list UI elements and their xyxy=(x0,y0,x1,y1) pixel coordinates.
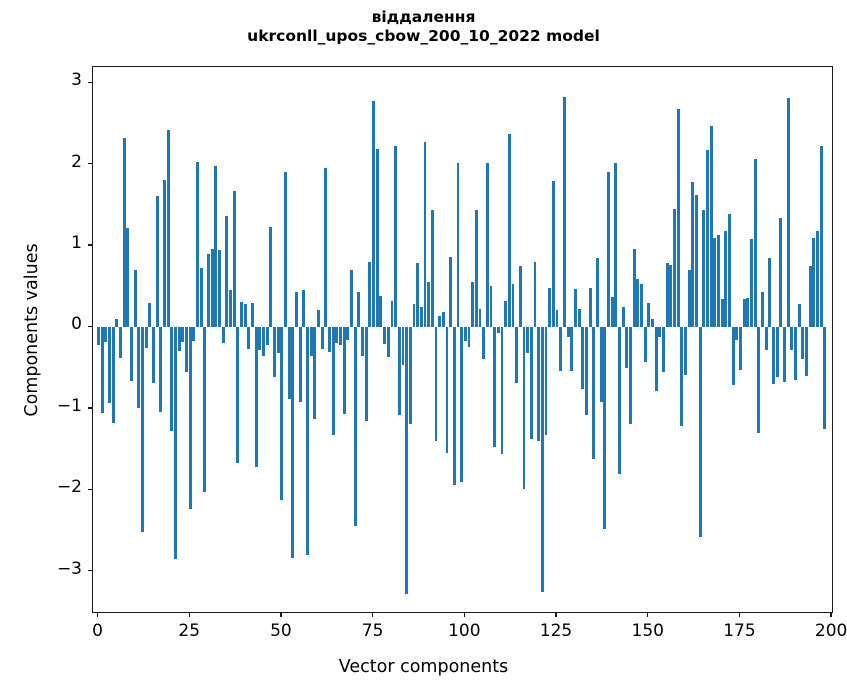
x-tick-label: 75 xyxy=(338,621,408,641)
bar xyxy=(581,327,584,388)
y-tick-label: 1 xyxy=(32,233,82,253)
bar xyxy=(724,231,727,327)
bar xyxy=(449,257,452,328)
bar xyxy=(123,138,126,328)
bar xyxy=(416,263,419,327)
bar xyxy=(585,327,588,414)
chart-title-line-2: ukrconll_upos_cbow_200_10_2022 model xyxy=(0,27,847,46)
bar xyxy=(218,250,221,327)
bar xyxy=(688,270,691,328)
bar xyxy=(732,327,735,385)
bar xyxy=(556,310,559,328)
bar xyxy=(387,327,390,356)
bar xyxy=(629,327,632,424)
bar xyxy=(548,288,551,327)
bar xyxy=(779,218,782,328)
bar xyxy=(611,297,614,328)
bar xyxy=(376,149,379,327)
bar xyxy=(236,327,239,462)
bar xyxy=(402,327,405,364)
bar xyxy=(152,327,155,382)
bar xyxy=(137,327,140,408)
x-tick-label: 0 xyxy=(63,621,133,641)
bar xyxy=(306,327,309,555)
bar xyxy=(534,262,537,327)
bar xyxy=(189,327,192,509)
bar xyxy=(134,270,137,328)
bar xyxy=(420,307,423,327)
bar xyxy=(302,290,305,327)
bar xyxy=(820,146,823,328)
bar xyxy=(394,146,397,328)
bar xyxy=(717,235,720,327)
x-tick-label: 175 xyxy=(704,621,774,641)
bar xyxy=(699,327,702,537)
bar xyxy=(126,228,129,327)
bar xyxy=(200,268,203,327)
bar xyxy=(240,302,243,327)
y-tick-label: 0 xyxy=(32,314,82,334)
bar xyxy=(633,249,636,327)
bar xyxy=(214,166,217,327)
bar xyxy=(578,309,581,328)
bar xyxy=(596,258,599,327)
bar xyxy=(713,238,716,328)
bar xyxy=(328,327,331,351)
bar xyxy=(442,312,445,327)
bar xyxy=(801,327,804,359)
x-tick-mark xyxy=(647,613,648,617)
bar xyxy=(574,289,577,327)
y-tick-label: −1 xyxy=(32,396,82,416)
bar xyxy=(805,327,808,376)
y-tick-label: 3 xyxy=(32,70,82,90)
bar xyxy=(787,98,790,328)
bar xyxy=(545,327,548,434)
bar xyxy=(816,231,819,328)
bar xyxy=(346,327,349,339)
bar xyxy=(823,327,826,429)
bar xyxy=(335,327,338,342)
bar xyxy=(812,238,815,328)
bar xyxy=(530,327,533,439)
bar xyxy=(680,327,683,425)
bar xyxy=(178,327,181,351)
bar xyxy=(185,327,188,372)
bar xyxy=(174,327,177,559)
bar xyxy=(523,327,526,488)
bar xyxy=(295,292,298,327)
y-tick-label: −3 xyxy=(32,559,82,579)
bar xyxy=(607,172,610,327)
bar-series xyxy=(93,67,832,612)
bar xyxy=(101,327,104,412)
bar xyxy=(196,162,199,327)
bar xyxy=(655,327,658,390)
bar xyxy=(324,168,327,328)
bar xyxy=(145,327,148,347)
bar xyxy=(368,262,371,327)
bar xyxy=(167,130,170,328)
bar xyxy=(776,327,779,377)
x-tick-mark xyxy=(280,613,281,617)
bar xyxy=(721,299,724,327)
bar xyxy=(754,159,757,327)
bar xyxy=(273,327,276,377)
bar xyxy=(435,327,438,440)
bar xyxy=(119,327,122,358)
bar xyxy=(192,327,195,341)
bar xyxy=(486,163,489,327)
bar xyxy=(658,327,661,337)
bar xyxy=(372,101,375,327)
bar xyxy=(750,239,753,328)
bar xyxy=(255,327,258,467)
bar xyxy=(684,327,687,375)
bar xyxy=(383,327,386,343)
bar xyxy=(541,327,544,592)
bar xyxy=(798,304,801,328)
bar xyxy=(743,299,746,327)
bar xyxy=(493,327,496,447)
bar xyxy=(625,327,628,368)
x-tick-label: 100 xyxy=(429,621,499,641)
bar xyxy=(515,327,518,382)
bar xyxy=(343,327,346,413)
bar xyxy=(669,265,672,328)
bar xyxy=(482,327,485,359)
bar xyxy=(203,327,206,491)
bar xyxy=(651,319,654,328)
bar xyxy=(761,292,764,327)
bar xyxy=(636,279,639,328)
bar xyxy=(618,327,621,474)
y-tick-label: 2 xyxy=(32,152,82,172)
bar xyxy=(357,292,360,327)
bar xyxy=(361,327,364,355)
bar xyxy=(310,327,313,355)
bar xyxy=(288,327,291,399)
bar xyxy=(115,319,118,328)
bar xyxy=(262,327,265,355)
chart-title-line-1: віддалення xyxy=(0,8,847,27)
bar xyxy=(148,303,151,327)
bar xyxy=(662,327,665,372)
bar xyxy=(284,172,287,327)
bar xyxy=(299,327,302,402)
bar xyxy=(405,327,408,594)
x-tick-label: 50 xyxy=(246,621,316,641)
x-tick-mark xyxy=(464,613,465,617)
bar xyxy=(468,327,471,347)
x-tick-mark xyxy=(739,613,740,617)
bar xyxy=(563,97,566,327)
bar xyxy=(446,327,449,452)
bar xyxy=(244,304,247,328)
bar xyxy=(365,327,368,421)
bar xyxy=(772,327,775,384)
bar xyxy=(794,327,797,379)
bar xyxy=(559,327,562,371)
bar xyxy=(592,327,595,458)
x-tick-mark xyxy=(555,613,556,617)
bar xyxy=(735,327,738,339)
bar xyxy=(427,282,430,328)
bar xyxy=(104,327,107,342)
bar xyxy=(233,191,236,328)
bar xyxy=(317,310,320,328)
bar xyxy=(497,327,500,333)
bar xyxy=(269,227,272,327)
bar xyxy=(508,134,511,328)
bar xyxy=(438,316,441,327)
bar xyxy=(251,303,254,327)
bar xyxy=(156,196,159,328)
bar xyxy=(526,327,529,352)
bar xyxy=(391,301,394,328)
x-tick-mark xyxy=(97,613,98,617)
bar xyxy=(332,327,335,434)
x-tick-mark xyxy=(830,613,831,617)
bar xyxy=(490,286,493,328)
bar xyxy=(695,195,698,328)
bar xyxy=(108,327,111,403)
bar xyxy=(313,327,316,418)
matplotlib-figure: віддалення ukrconll_upos_cbow_200_10_202… xyxy=(0,0,847,696)
bar xyxy=(809,266,812,328)
bar xyxy=(413,304,416,328)
bar xyxy=(424,142,427,328)
bar xyxy=(702,210,705,327)
bar xyxy=(379,296,382,328)
bar xyxy=(170,327,173,430)
bar xyxy=(277,327,280,352)
bar xyxy=(350,270,353,327)
bar xyxy=(409,327,412,423)
bar xyxy=(97,327,100,344)
bar xyxy=(112,327,115,422)
bar xyxy=(768,258,771,327)
bar xyxy=(398,327,401,414)
bar xyxy=(647,303,650,327)
x-tick-label: 150 xyxy=(613,621,683,641)
bar xyxy=(570,327,573,371)
bar xyxy=(783,327,786,382)
bar xyxy=(644,327,647,362)
bar xyxy=(354,327,357,526)
x-tick-mark xyxy=(372,613,373,617)
bar xyxy=(589,288,592,327)
bar xyxy=(501,327,504,453)
bar xyxy=(339,327,342,345)
bar xyxy=(475,210,478,327)
bar xyxy=(622,307,625,327)
bar xyxy=(247,327,250,348)
bar xyxy=(222,327,225,342)
bar xyxy=(790,327,793,350)
bar xyxy=(163,180,166,327)
bar xyxy=(603,327,606,528)
bar xyxy=(677,109,680,327)
bar xyxy=(457,163,460,327)
bar xyxy=(211,249,214,328)
x-tick-label: 200 xyxy=(796,621,847,641)
bar xyxy=(181,327,184,342)
bar xyxy=(640,284,643,328)
bar xyxy=(600,327,603,402)
bar xyxy=(479,309,482,328)
bar xyxy=(258,327,261,350)
bar xyxy=(207,254,210,327)
bar xyxy=(460,327,463,482)
bar xyxy=(225,216,228,328)
bar xyxy=(765,327,768,350)
bar xyxy=(431,210,434,327)
bar xyxy=(614,163,617,327)
bar xyxy=(471,282,474,328)
bar xyxy=(504,301,507,327)
bar xyxy=(537,327,540,441)
bar xyxy=(280,327,283,500)
bar xyxy=(757,327,760,433)
x-axis-label: Vector components xyxy=(0,657,847,677)
bar xyxy=(512,284,515,328)
chart-title: віддалення ukrconll_upos_cbow_200_10_202… xyxy=(0,8,847,46)
bar xyxy=(739,327,742,369)
plot-axes xyxy=(92,66,833,613)
y-tick-label: −2 xyxy=(32,477,82,497)
bar xyxy=(728,214,731,327)
bar xyxy=(673,209,676,327)
bar xyxy=(159,327,162,412)
bar xyxy=(691,182,694,328)
x-tick-mark xyxy=(189,613,190,617)
bar xyxy=(710,126,713,328)
bar xyxy=(567,327,570,337)
bar xyxy=(291,327,294,557)
bar xyxy=(552,181,555,328)
bar xyxy=(321,327,324,348)
bar xyxy=(229,290,232,327)
bar xyxy=(519,266,522,328)
x-tick-label: 125 xyxy=(521,621,591,641)
bar xyxy=(706,150,709,327)
bar xyxy=(464,327,467,341)
bar xyxy=(666,263,669,327)
bar xyxy=(746,298,749,327)
bar xyxy=(141,327,144,531)
x-tick-label: 25 xyxy=(154,621,224,641)
bar xyxy=(266,327,269,344)
bar xyxy=(453,327,456,485)
bar xyxy=(130,327,133,381)
